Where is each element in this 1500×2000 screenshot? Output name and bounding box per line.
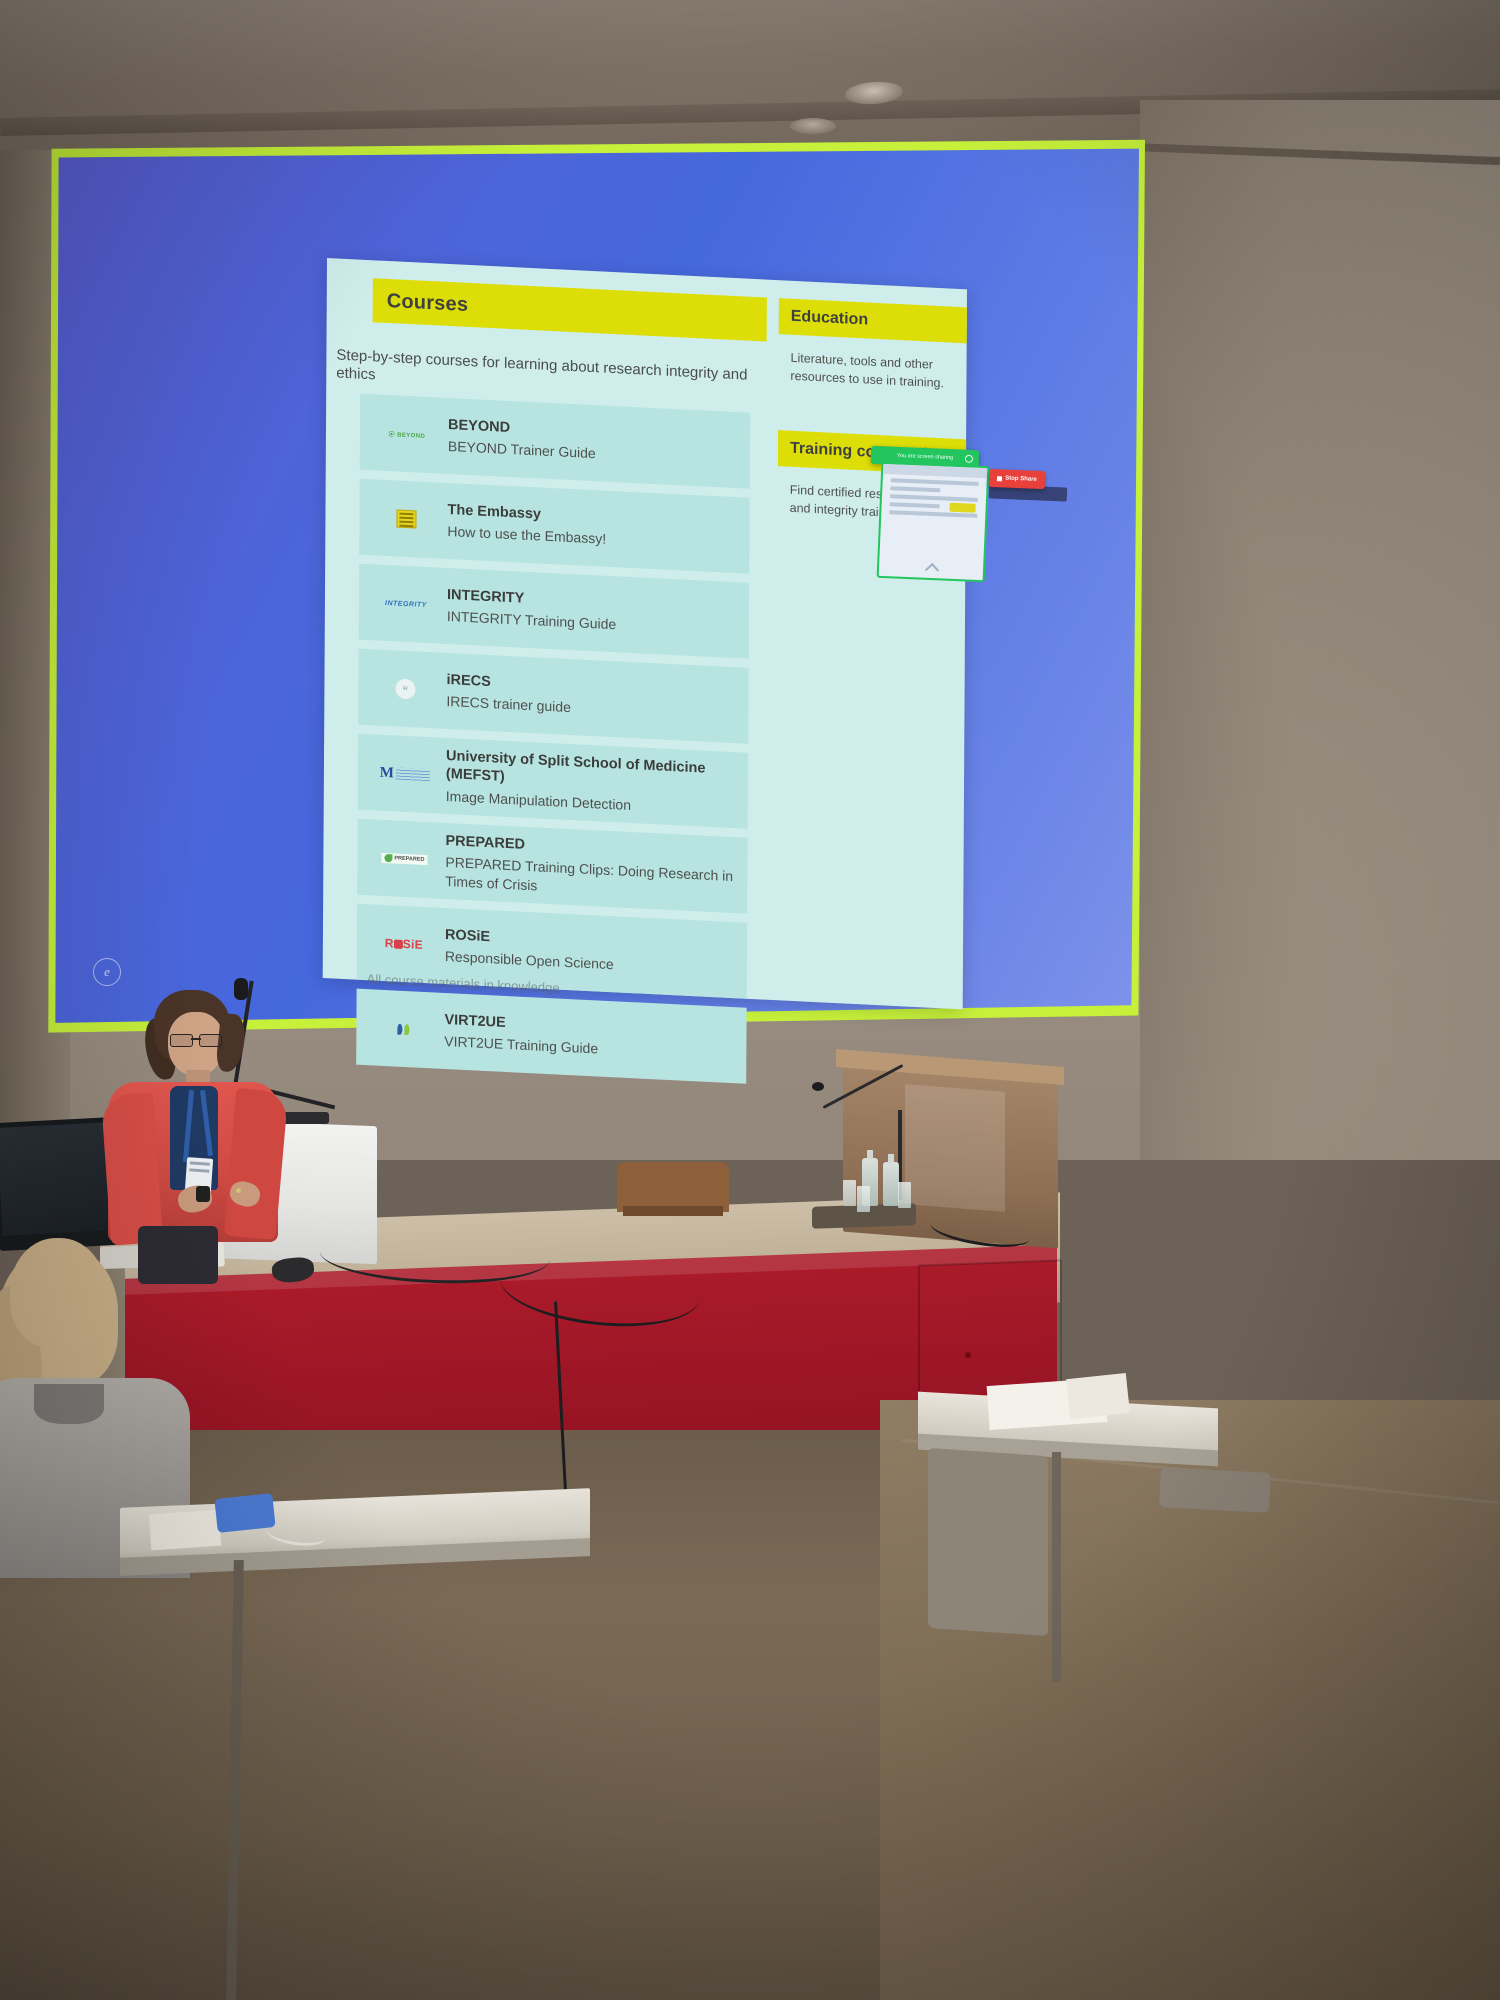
right-wall — [1140, 100, 1500, 1160]
lecture-hall-scene: Courses Step-by-step courses for learnin… — [0, 0, 1500, 2000]
course-subtitle: VIRT2UE Training Guide — [444, 1032, 598, 1058]
paper-sheet — [149, 1510, 221, 1551]
course-subtitle: BEYOND Trainer Guide — [448, 437, 596, 462]
course-item-embassy[interactable]: The Embassy How to use the Embassy! — [359, 479, 749, 574]
course-title: iRECS — [446, 671, 571, 695]
audience-chair — [928, 1448, 1048, 1636]
stop-share-label: Stop Share — [1005, 476, 1037, 483]
ring-icon — [236, 1188, 241, 1193]
share-dot-icon — [965, 455, 973, 463]
course-subtitle: How to use the Embassy! — [447, 522, 606, 548]
paper-sheet — [1066, 1373, 1130, 1419]
drinking-glass — [898, 1182, 911, 1208]
drinking-glass — [843, 1180, 856, 1206]
mefst-logo: M — [368, 759, 442, 789]
eyeglasses-icon — [170, 1034, 222, 1045]
stop-square-icon — [997, 476, 1002, 481]
integrity-logo: INTEGRITY — [369, 589, 443, 619]
audience-chair — [1159, 1467, 1271, 1513]
preview-line — [890, 494, 978, 502]
screenshare-preview-panel[interactable] — [877, 462, 990, 582]
course-subtitle: IRECS trainer guide — [446, 692, 571, 716]
projection-screen: Courses Step-by-step courses for learnin… — [45, 138, 1160, 1058]
education-banner: Education — [779, 298, 967, 343]
preview-line — [890, 486, 940, 492]
stop-share-button[interactable]: Stop Share — [989, 469, 1046, 489]
embassy-watermark: e — [93, 958, 121, 986]
course-item-mefst[interactable]: M University of Split School of Medicine… — [358, 734, 748, 829]
lectern-inset — [905, 1084, 1005, 1212]
presenter — [98, 990, 278, 1280]
embassy-logo — [369, 504, 443, 534]
preview-header — [883, 464, 987, 478]
water-bottle — [883, 1162, 899, 1206]
drinking-glass — [857, 1186, 870, 1212]
right-desk-leg — [1052, 1452, 1061, 1682]
virt2ue-logo — [366, 1014, 440, 1044]
education-body: Literature, tools and other resources to… — [790, 349, 956, 393]
panel-lock-icon — [965, 1352, 971, 1358]
chair-behind-table — [617, 1162, 729, 1212]
audience-collar — [34, 1384, 104, 1424]
mic-base — [283, 1112, 329, 1124]
audience-head — [10, 1238, 106, 1348]
projected-slide: Courses Step-by-step courses for learnin… — [323, 258, 967, 1009]
sidebar-column: Education Literature, tools and other re… — [763, 280, 967, 1010]
chevron-up-icon[interactable] — [925, 563, 939, 577]
ceiling-light-icon — [790, 118, 836, 134]
course-item-integrity[interactable]: INTEGRITY INTEGRITY INTEGRITY Training G… — [359, 564, 749, 659]
course-item-beyond[interactable]: ⦿ BEYOND BEYOND BEYOND Trainer Guide — [360, 394, 750, 489]
presenter-blazer-left — [101, 1092, 163, 1245]
embassy-courses-page: Courses Step-by-step courses for learnin… — [323, 258, 967, 1009]
course-item-irecs[interactable]: iR iRECS IRECS trainer guide — [358, 649, 748, 744]
page-title: Courses — [387, 289, 469, 316]
rosie-logo: RSiE — [367, 929, 441, 959]
preview-line — [891, 478, 979, 486]
preview-line — [890, 502, 940, 508]
main-column: Courses Step-by-step courses for learnin… — [323, 258, 767, 1000]
microphone-icon — [812, 1082, 824, 1091]
preview-button — [949, 503, 975, 513]
irecs-logo: iR — [368, 674, 442, 704]
education-heading: Education — [791, 308, 868, 330]
prepared-logo: PREPARED — [367, 844, 441, 874]
courses-banner: Courses — [373, 278, 767, 341]
beyond-logo: ⦿ BEYOND — [370, 419, 444, 449]
presentation-clicker — [196, 1186, 210, 1202]
course-item-prepared[interactable]: PREPARED PREPARED PREPARED Training Clip… — [357, 819, 747, 914]
screenshare-status-label: You are screen sharing — [897, 453, 954, 461]
